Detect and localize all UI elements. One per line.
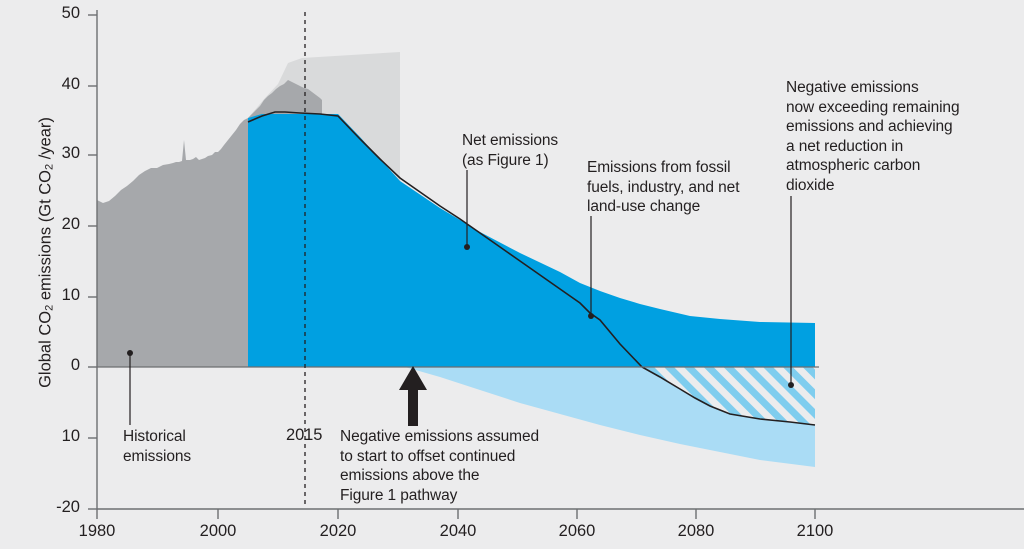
year-2015-label: 2015 — [286, 426, 322, 446]
y-axis-title-part2: emissions (Gt CO — [37, 170, 55, 305]
annotation-negative-exceeding: Negative emissions now exceeding remaini… — [786, 78, 959, 195]
negative-start-arrow-icon — [399, 366, 427, 426]
annotation-gross-emissions: Emissions from fossil fuels, industry, a… — [587, 158, 739, 217]
x-tick-label-2060: 2060 — [542, 522, 612, 541]
x-tick-label-2020: 2020 — [303, 522, 373, 541]
x-tick-label-2100: 2100 — [780, 522, 850, 541]
x-tick-label-2080: 2080 — [661, 522, 731, 541]
y-tick-label-neg10: 10 — [32, 427, 80, 446]
x-axis-ticks — [97, 509, 815, 519]
y-axis-title-sub1: 2 — [44, 305, 56, 311]
y-tick-label-40: 40 — [32, 75, 80, 94]
annotation-net-emissions: Net emissions (as Figure 1) — [462, 131, 558, 170]
y-axis-title-part1: Global CO — [37, 311, 55, 388]
y-tick-label-0: 0 — [32, 356, 80, 375]
x-tick-label-1980: 1980 — [62, 522, 132, 541]
leader-dot-net-emissions — [464, 244, 470, 250]
y-axis-title-sub2: 2 — [44, 164, 56, 170]
y-tick-label-20: 20 — [32, 215, 80, 234]
x-tick-label-2000: 2000 — [183, 522, 253, 541]
y-axis-ticks — [88, 15, 97, 509]
leader-dot-historical — [127, 350, 133, 356]
leader-dot-negative-exceeding — [788, 382, 794, 388]
annotation-historical-emissions: Historical emissions — [123, 427, 191, 466]
annotation-negative-start: Negative emissions assumed to start to o… — [340, 427, 539, 505]
figure-root: Global CO2 emissions (Gt CO2 /year) 50 4… — [0, 0, 1024, 549]
x-tick-label-2040: 2040 — [423, 522, 493, 541]
y-tick-label-30: 30 — [32, 144, 80, 163]
y-tick-label-10: 10 — [32, 286, 80, 305]
y-tick-label-50: 50 — [32, 4, 80, 23]
leader-dot-gross-emissions — [588, 313, 594, 319]
y-tick-label-neg20: -20 — [32, 498, 80, 517]
